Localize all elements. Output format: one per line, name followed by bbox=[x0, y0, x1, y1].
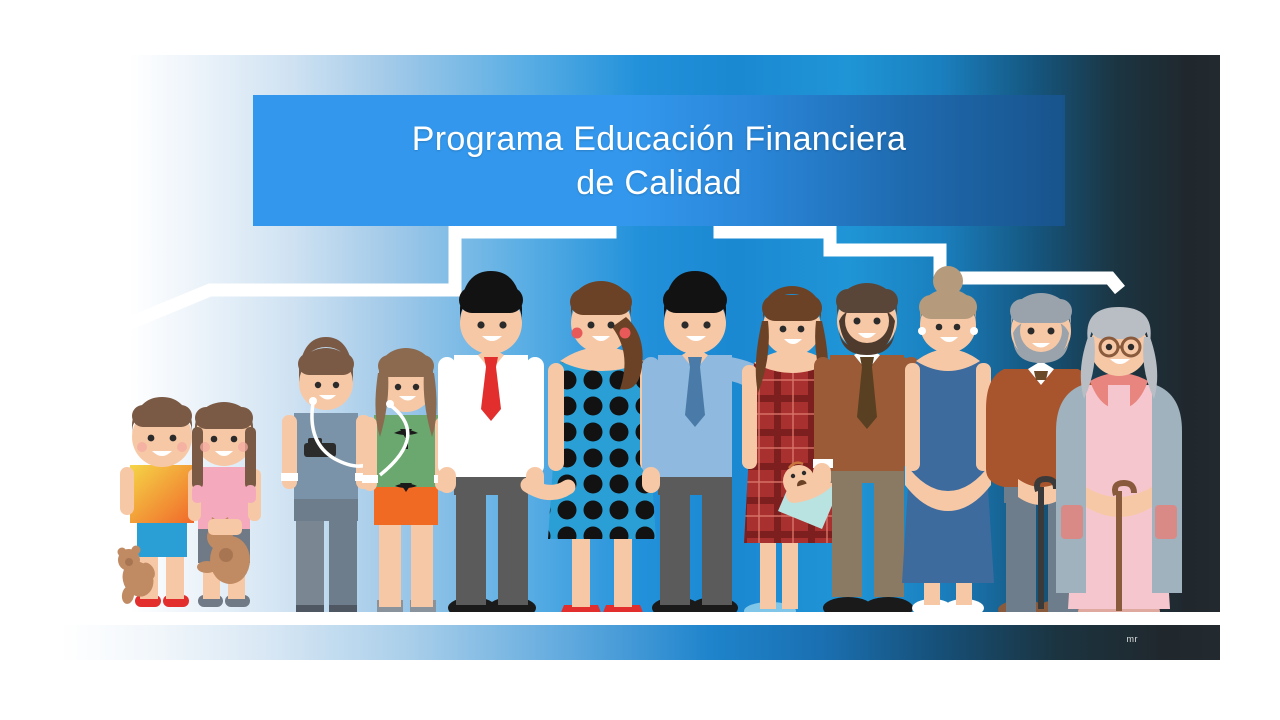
presentation-slide: Programa Educación Financiera de Calidad… bbox=[0, 0, 1280, 720]
figure-teen-girl bbox=[362, 348, 450, 612]
watermark-label: mr bbox=[1127, 634, 1139, 644]
footer-bar: mr bbox=[60, 625, 1220, 660]
figure-elder-woman bbox=[1056, 307, 1182, 612]
cane-prop-2 bbox=[1116, 491, 1122, 611]
page-title: Programa Educación Financiera de Calidad bbox=[412, 117, 906, 205]
figure-young-woman bbox=[528, 281, 656, 612]
cane-prop bbox=[1038, 487, 1044, 609]
figure-child-girl bbox=[188, 402, 261, 607]
figure-young-man bbox=[438, 271, 544, 612]
title-line-2: de Calidad bbox=[412, 161, 906, 205]
figure-mature-woman bbox=[902, 266, 994, 612]
title-line-1: Programa Educación Financiera bbox=[412, 120, 906, 158]
slide-title-banner: Programa Educación Financiera de Calidad bbox=[253, 95, 1065, 226]
